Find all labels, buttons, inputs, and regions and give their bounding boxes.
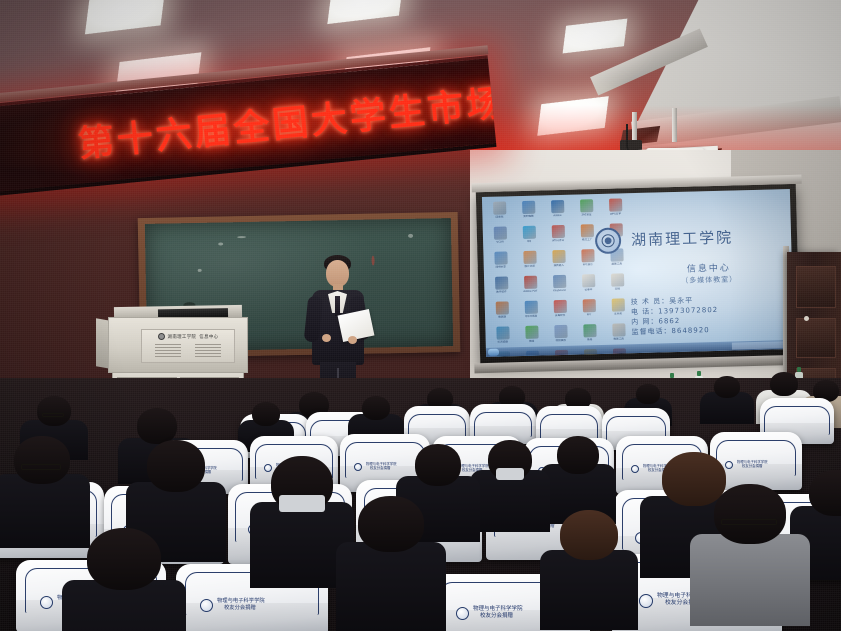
face-mask [496, 468, 524, 480]
eyeglasses [721, 519, 777, 525]
audience-member-head [557, 436, 599, 474]
audience-member [700, 376, 754, 430]
ceiling-light-8 [563, 18, 628, 53]
audience-member-head [14, 436, 70, 484]
lecture-hall-photo: 第十六届全国大学生市场调查与分析大赛 回收站我的电脑Adobe360安全WPS文… [0, 0, 841, 631]
chair-print-text: 物理与电子科学学院校友分会捐赠 [366, 462, 397, 471]
audience-member-torso [690, 534, 810, 626]
ceiling-light-2 [327, 0, 402, 24]
chair-logo-icon [639, 594, 653, 608]
audience-member-head [37, 396, 71, 426]
eyeglasses [42, 413, 64, 417]
audience-member [690, 484, 810, 631]
chair-logo-icon [631, 465, 639, 473]
chair-logo-icon [456, 607, 469, 620]
chair-print-line-1: 物理与电子科学学院 [473, 606, 523, 613]
chair-print-line-2: 校友分会捐赠 [370, 466, 397, 470]
audience-member-head [358, 496, 424, 552]
lectern-body: 湖南理工学院 信息中心 [108, 317, 248, 373]
presenter-right-hand [348, 336, 357, 344]
chair-print-line-2: 校友分会捐赠 [480, 613, 523, 620]
audience-member [470, 440, 550, 542]
lectern-university-text: 湖南理工学院 [168, 334, 197, 340]
presenter-tie [335, 296, 340, 316]
audience-area: 物理与电子科学学院校友分会捐赠物理与电子科学学院校友分会捐赠物理与电子科学学院校… [0, 378, 841, 631]
start-button[interactable] [488, 349, 499, 356]
audience-member [62, 528, 186, 631]
projection-screen-housing: 回收站我的电脑Adobe360安全WPS文字VCDRQQoffice办公格式工厂… [476, 184, 800, 364]
audience-member-head [147, 440, 205, 492]
presenter-left-hand [322, 334, 331, 342]
audience-member-head [137, 408, 177, 444]
chair-logo-icon [40, 596, 53, 609]
projector-pole [672, 108, 677, 142]
audience-member-torso [336, 542, 446, 631]
lectern-department-text: 信息中心 [199, 334, 218, 340]
audience-member [336, 496, 446, 631]
audience-member-head [636, 384, 660, 404]
lectern-logo-icon [158, 333, 165, 340]
audience-member-head [252, 402, 280, 426]
audience-member-head [87, 528, 161, 590]
lectern-label-plate: 湖南理工学院 信息中心 [141, 329, 235, 363]
projection-screen[interactable]: 回收站我的电脑Adobe360安全WPS文字VCDRQQoffice办公格式工厂… [482, 189, 794, 357]
ceiling-light-1 [85, 0, 165, 34]
chair-print-text: 物理与电子科学学院校友分会捐赠 [473, 606, 523, 620]
chair-logo-icon [200, 599, 213, 612]
presenter-head [326, 260, 349, 287]
audience-member-head [415, 444, 461, 486]
chair-print-line-2: 校友分会捐赠 [224, 605, 265, 612]
audience-member-head [714, 376, 740, 398]
chair-print-text: 物理与电子科学学院校友分会捐赠 [217, 598, 265, 611]
lectern-vents [155, 344, 221, 359]
eyeglasses [21, 464, 61, 470]
chair-logo-icon [354, 463, 362, 471]
audience-member-head [770, 372, 798, 396]
audience-member-head [362, 396, 390, 420]
door-knob[interactable] [804, 316, 809, 321]
door-panel-mid [796, 318, 836, 358]
audience-member-torso [540, 550, 638, 630]
audience-member [540, 510, 638, 631]
face-mask [279, 495, 325, 512]
ceiling-light-7 [537, 96, 609, 136]
screen-light-falloff [482, 189, 794, 357]
door-panel-top [796, 266, 836, 308]
audience-member-head [714, 484, 786, 544]
chair-print-line-1: 物理与电子科学学院 [217, 598, 265, 605]
audience-member-head [560, 510, 618, 560]
